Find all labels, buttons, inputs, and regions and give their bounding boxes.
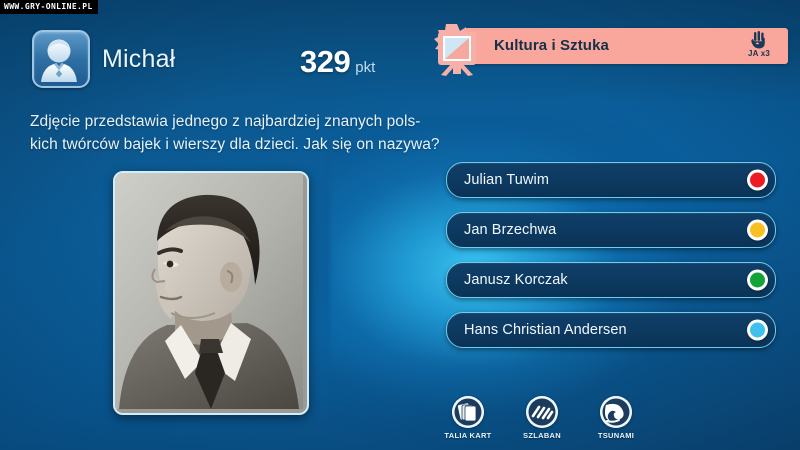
question-photo [113, 171, 309, 415]
score-unit: pkt [355, 59, 375, 76]
person-avatar-icon [34, 32, 84, 82]
powerup-tsunami[interactable]: TSUNAMI [588, 396, 644, 440]
powerup-talia-kart[interactable]: TALIA KART [440, 396, 496, 440]
answer-label: Janusz Korczak [464, 272, 775, 288]
answer-option-4[interactable]: Hans Christian Andersen [446, 312, 776, 348]
green-answer-dot[interactable] [747, 270, 768, 291]
question-line-1: Zdjęcie przedstawia jednego z najbardzie… [30, 110, 440, 133]
red-answer-dot[interactable] [747, 170, 768, 191]
score-value: 329 [300, 44, 350, 80]
hand-raised-icon [749, 30, 769, 50]
category-banner: Kultura i Sztuka JA x3 [432, 28, 788, 64]
answer-label: Jan Brzechwa [464, 222, 775, 238]
powerup-label: TSUNAMI [588, 431, 644, 440]
answer-option-3[interactable]: Janusz Korczak [446, 262, 776, 298]
avatar [32, 30, 90, 88]
score-display: 329 pkt [300, 44, 375, 80]
powerup-bar: TALIA KART SZLABAN [440, 396, 644, 440]
answer-label: Hans Christian Andersen [464, 322, 775, 338]
powerup-label: SZLABAN [514, 431, 570, 440]
site-watermark: WWW.GRY-ONLINE.PL [0, 0, 98, 14]
blue-answer-dot[interactable] [747, 320, 768, 341]
easel-painting-icon [432, 22, 482, 76]
card-deck-icon [452, 396, 484, 428]
powerup-szlaban[interactable]: SZLABAN [514, 396, 570, 440]
answer-dot-fill [750, 323, 765, 338]
category-label: Kultura i Sztuka [494, 37, 609, 54]
barrier-stripes-icon [526, 396, 558, 428]
powerup-label: TALIA KART [440, 431, 496, 440]
answer-option-1[interactable]: Julian Tuwim [446, 162, 776, 198]
wave-icon [600, 396, 632, 428]
answer-dot-fill [750, 273, 765, 288]
portrait-photo-image [115, 173, 303, 409]
answer-option-2[interactable]: Jan Brzechwa [446, 212, 776, 248]
status-badge-label: JA x3 [738, 49, 780, 58]
yellow-answer-dot[interactable] [747, 220, 768, 241]
status-badge: JA x3 [738, 30, 780, 58]
answer-label: Julian Tuwim [464, 172, 775, 188]
answer-dot-fill [750, 173, 765, 188]
quiz-game-screen: WWW.GRY-ONLINE.PL Michał 329 pkt [0, 0, 800, 450]
answer-dot-fill [750, 223, 765, 238]
answer-list: Julian Tuwim Jan Brzechwa Janusz Korczak… [446, 162, 776, 362]
question-text: Zdjęcie przedstawia jednego z najbardzie… [30, 110, 440, 156]
player-info: Michał [32, 30, 175, 88]
player-name: Michał [102, 45, 175, 74]
question-line-2: kich twórców bajek i wierszy dla dzieci.… [30, 133, 440, 156]
